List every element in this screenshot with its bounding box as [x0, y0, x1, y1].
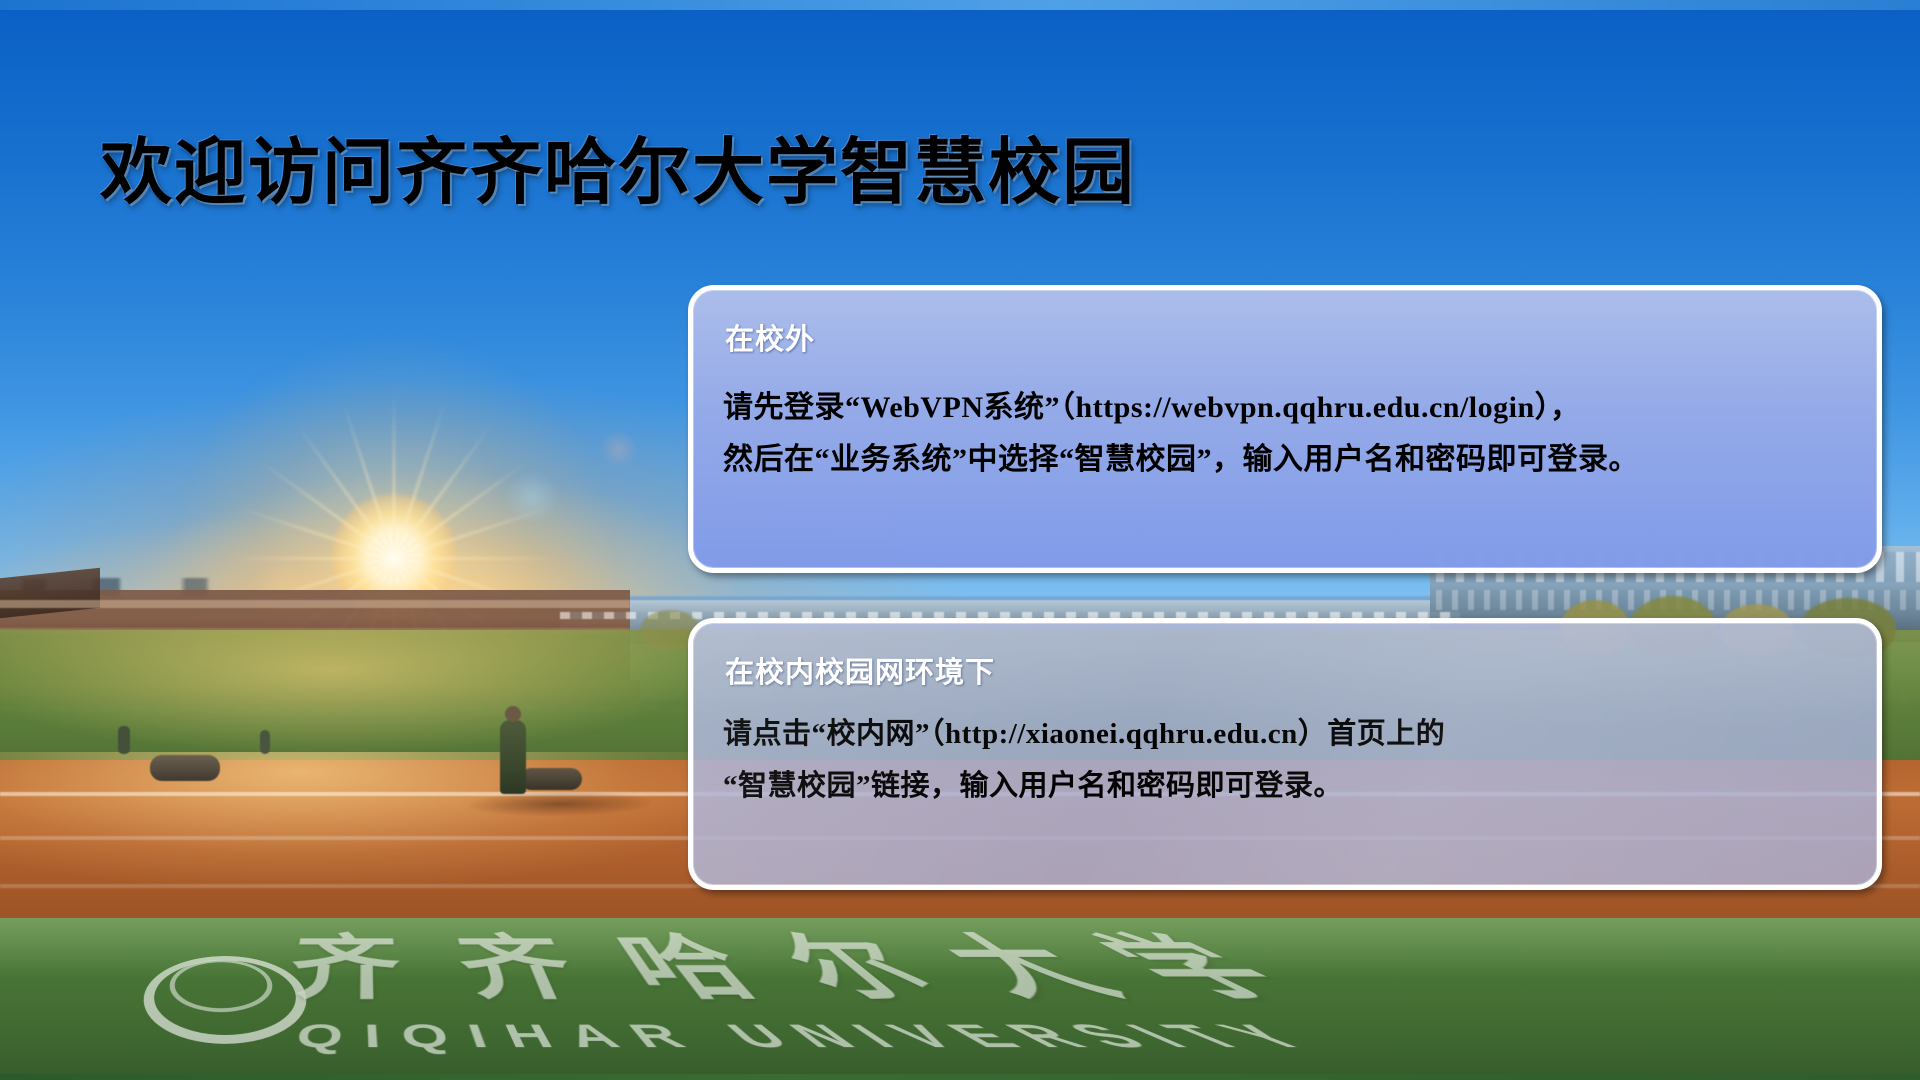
ground-text-chinese: 齐齐哈尔大学 — [281, 915, 1422, 1015]
stadium-rail — [0, 600, 630, 608]
card-heading-off-campus: 在校外 — [725, 316, 1847, 358]
runner-figure — [500, 720, 526, 794]
card-line-webvpn-url: 请先登录“WebVPN系统”（https://webvpn.qqhru.edu.… — [723, 382, 1847, 434]
card-line-xiaonei-steps: “智慧校园”链接，输入用户名和密码即可登录。 — [723, 761, 1847, 813]
person-crouching — [520, 768, 582, 790]
person-figure — [118, 726, 130, 754]
runner-head — [505, 706, 521, 722]
page-title: 欢迎访问齐齐哈尔大学智慧校园 — [100, 136, 1136, 212]
slide-canvas: 齐齐哈尔大学 QIQIHAR UNIVERSITY 欢迎访问齐齐哈尔大学智慧校园… — [0, 0, 1920, 1080]
ground-text-english: QIQIHAR UNIVERSITY — [294, 1017, 1358, 1056]
info-card-off-campus: 在校外 请先登录“WebVPN系统”（https://webvpn.qqhru.… — [688, 285, 1882, 573]
ground-painted-logo: 齐齐哈尔大学 QIQIHAR UNIVERSITY — [0, 905, 1920, 1080]
runner-shadow — [460, 792, 660, 816]
card-line-xiaonei-url: 请点击“校内网”（http://xiaonei.qqhru.edu.cn）首页上… — [723, 709, 1847, 761]
person-crouching — [150, 755, 220, 781]
person-figure — [260, 730, 270, 754]
card-line-webvpn-steps: 然后在“业务系统”中选择“智慧校园”，输入用户名和密码即可登录。 — [723, 434, 1847, 486]
bottom-accent-strip — [0, 1074, 1920, 1080]
card-heading-on-campus: 在校内校园网环境下 — [725, 649, 1847, 691]
top-accent-bar — [0, 0, 1920, 10]
info-card-on-campus: 在校内校园网环境下 请点击“校内网”（http://xiaonei.qqhru.… — [688, 618, 1882, 890]
